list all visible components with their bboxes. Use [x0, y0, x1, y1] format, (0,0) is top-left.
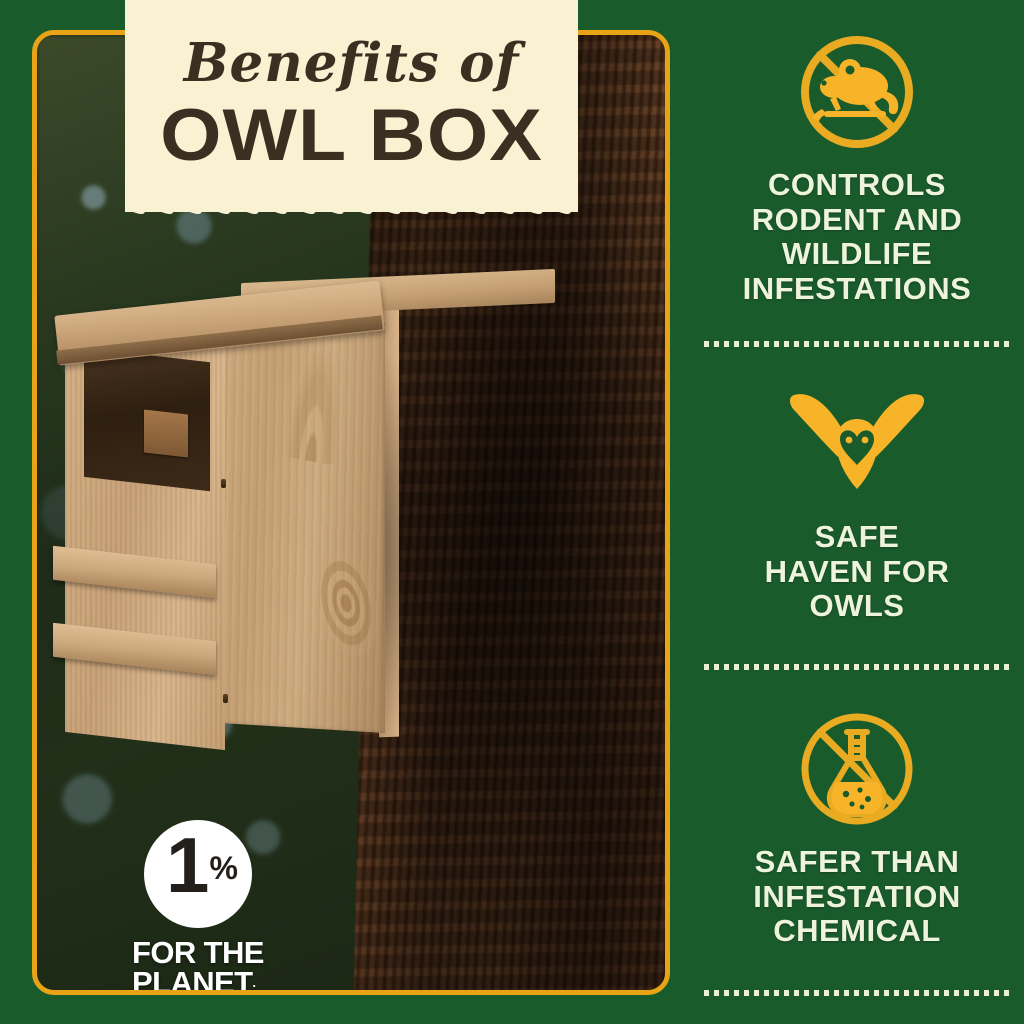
- benefit-3-line-3: CHEMICAL: [704, 914, 1010, 949]
- owl-icon: [690, 380, 1024, 508]
- benefit-2-text: SAFE HAVEN FOR OWLS: [690, 520, 1024, 624]
- benefit-divider-3: [704, 990, 1010, 996]
- owl-box-interior-plate: [144, 410, 188, 458]
- one-percent-for-the-planet-logo: 1 % FOR THE PLANET.: [132, 820, 282, 990]
- planet-logo-line2: PLANET: [132, 965, 252, 990]
- percent-number: 1: [166, 826, 206, 904]
- benefit-1-line-1: CONTROLS: [704, 168, 1010, 203]
- no-rodent-icon: [690, 28, 1024, 156]
- owl-box-screw-lower: [223, 694, 228, 703]
- benefit-divider-1: [704, 341, 1010, 347]
- benefit-item-2: SAFE HAVEN FOR OWLS: [690, 380, 1024, 624]
- benefit-1-line-4: INFESTATIONS: [704, 272, 1010, 307]
- benefit-1-text: CONTROLS RODENT AND WILDLIFE INFESTATION…: [690, 168, 1024, 307]
- benefit-item-3: SAFER THAN INFESTATION CHEMICAL: [690, 705, 1024, 949]
- poster-root: 1 % FOR THE PLANET. Benefits of OWL BOX: [0, 0, 1024, 1024]
- benefit-1-line-2: RODENT AND: [704, 203, 1010, 238]
- title-banner: Benefits of OWL BOX: [125, 0, 578, 212]
- benefit-3-line-2: INFESTATION: [704, 880, 1010, 915]
- benefit-2-line-1: SAFE: [704, 520, 1010, 555]
- benefit-3-text: SAFER THAN INFESTATION CHEMICAL: [690, 845, 1024, 949]
- benefit-1-line-3: WILDLIFE: [704, 237, 1010, 272]
- banner-title-line1: Benefits of: [125, 32, 578, 94]
- benefit-divider-2: [704, 664, 1010, 670]
- owl-box-front-panel: [219, 312, 385, 733]
- benefit-3-line-1: SAFER THAN: [704, 845, 1010, 880]
- no-chemical-flask-icon: [690, 705, 1024, 833]
- planet-logo-wordmark: FOR THE PLANET.: [132, 938, 282, 990]
- owl-box-screw-upper: [221, 479, 226, 488]
- one-percent-circle: 1 %: [144, 820, 252, 928]
- benefits-column: CONTROLS RODENT AND WILDLIFE INFESTATION…: [690, 0, 1024, 1024]
- banner-title-line2: OWL BOX: [107, 94, 596, 177]
- registered-mark: .: [252, 975, 255, 990]
- banner-scallop-edge: [125, 200, 578, 218]
- benefit-2-line-2: HAVEN FOR: [704, 555, 1010, 590]
- benefit-item-1: CONTROLS RODENT AND WILDLIFE INFESTATION…: [690, 28, 1024, 307]
- percent-symbol: %: [210, 852, 238, 884]
- benefit-2-line-3: OWLS: [704, 589, 1010, 624]
